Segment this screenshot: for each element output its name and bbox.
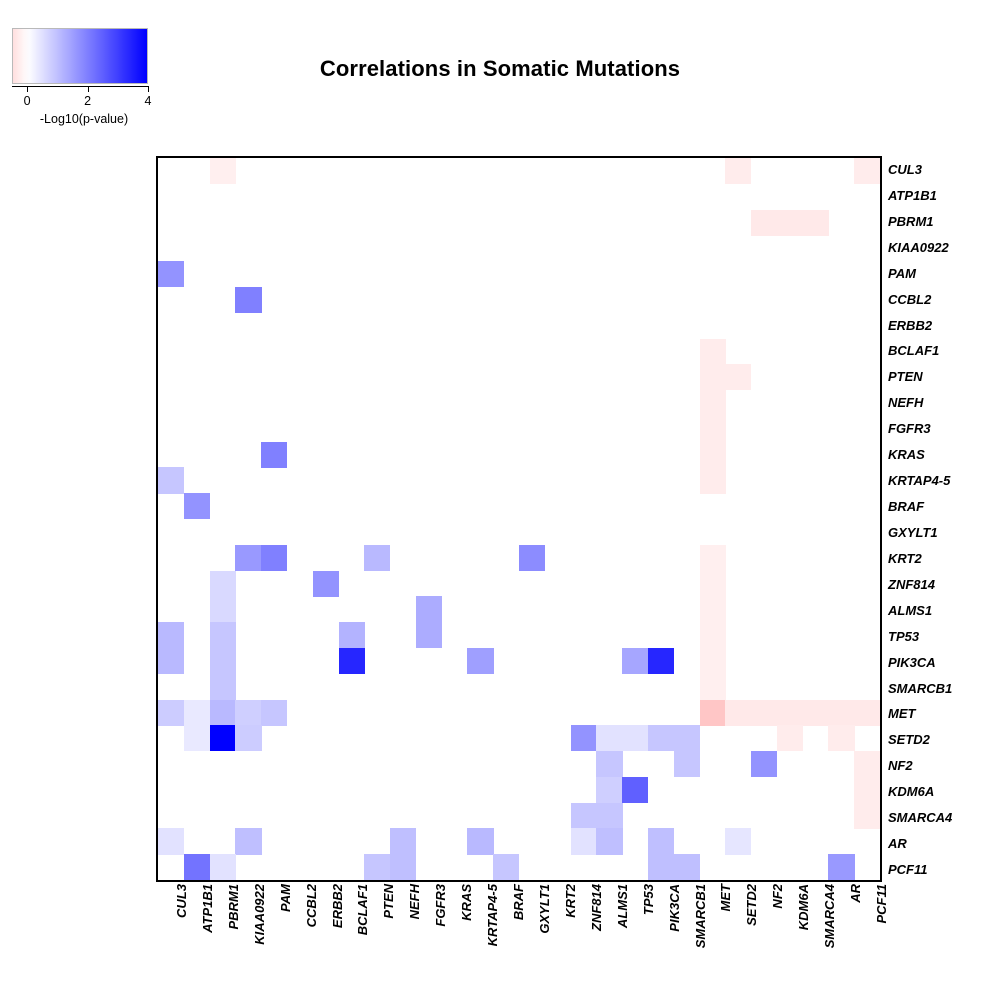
heatmap-cell xyxy=(235,828,261,854)
heatmap-cell xyxy=(210,158,236,184)
row-label-smarca4: SMARCA4 xyxy=(888,811,952,824)
heatmap-cell xyxy=(210,648,236,674)
row-label-nf2: NF2 xyxy=(888,759,913,772)
row-label-erbb2: ERBB2 xyxy=(888,319,932,332)
heatmap-cell xyxy=(854,700,880,726)
heatmap-cell xyxy=(700,596,726,622)
heatmap-cell xyxy=(184,725,210,751)
heatmap-cell xyxy=(339,622,365,648)
heatmap-cell xyxy=(828,854,854,880)
col-label-fgfr3: FGFR3 xyxy=(433,884,448,927)
heatmap-cell xyxy=(725,700,751,726)
col-label-nefh: NEFH xyxy=(407,884,422,919)
col-label-alms1: ALMS1 xyxy=(615,884,630,928)
heatmap-cell xyxy=(622,725,648,751)
heatmap-cell xyxy=(364,854,390,880)
col-label-nf2: NF2 xyxy=(770,884,785,909)
heatmap-cell xyxy=(467,648,493,674)
heatmap-cell xyxy=(210,674,236,700)
col-label-atp1b1: ATP1B1 xyxy=(200,884,215,933)
row-label-kras: KRAS xyxy=(888,448,925,461)
heatmap-cell xyxy=(803,210,829,236)
heatmap-cell xyxy=(416,622,442,648)
heatmap-cell xyxy=(571,803,597,829)
heatmap-cell xyxy=(854,158,880,184)
col-label-pik3ca: PIK3CA xyxy=(667,884,682,932)
col-label-bclaf1: BCLAF1 xyxy=(355,884,370,935)
row-label-kiaa0922: KIAA0922 xyxy=(888,241,949,254)
page-title: Correlations in Somatic Mutations xyxy=(0,56,1000,82)
row-label-gxylt1: GXYLT1 xyxy=(888,526,938,539)
row-label-pten: PTEN xyxy=(888,370,923,383)
heatmap-cell xyxy=(700,339,726,365)
heatmap-cell xyxy=(235,725,261,751)
col-label-cul3: CUL3 xyxy=(174,884,189,918)
heatmap-cell xyxy=(210,725,236,751)
heatmap-cells xyxy=(158,158,880,880)
heatmap-cell xyxy=(700,545,726,571)
heatmap-cell xyxy=(158,828,184,854)
row-label-tp53: TP53 xyxy=(888,630,919,643)
row-label-alms1: ALMS1 xyxy=(888,604,932,617)
heatmap-cell xyxy=(596,725,622,751)
heatmap-cell xyxy=(803,700,829,726)
heatmap-cell xyxy=(700,467,726,493)
colorbar-legend: 024 -Log10(p-value) xyxy=(12,28,212,138)
row-label-pcf11: PCF11 xyxy=(888,863,928,876)
heatmap-cell xyxy=(777,725,803,751)
col-label-kras: KRAS xyxy=(459,884,474,921)
heatmap-cell xyxy=(158,622,184,648)
heatmap-cell xyxy=(184,493,210,519)
col-label-smarca4: SMARCA4 xyxy=(822,884,837,948)
col-label-pten: PTEN xyxy=(381,884,396,919)
heatmap-cell xyxy=(261,545,287,571)
heatmap-cell xyxy=(158,467,184,493)
heatmap-cell xyxy=(467,828,493,854)
heatmap-cell xyxy=(261,700,287,726)
heatmap-cell xyxy=(674,751,700,777)
col-label-pam: PAM xyxy=(278,884,293,912)
heatmap-cell xyxy=(700,674,726,700)
row-label-fgfr3: FGFR3 xyxy=(888,422,931,435)
colorbar-caption: -Log10(p-value) xyxy=(4,112,164,126)
col-label-znf814: ZNF814 xyxy=(589,884,604,931)
heatmap-cell xyxy=(777,700,803,726)
heatmap-cell xyxy=(235,700,261,726)
row-label-kdm6a: KDM6A xyxy=(888,785,934,798)
column-axis-labels: CUL3ATP1B1PBRM1KIAA0922PAMCCBL2ERBB2BCLA… xyxy=(156,884,882,1000)
row-label-nefh: NEFH xyxy=(888,396,923,409)
heatmap-cell xyxy=(854,751,880,777)
heatmap-cell xyxy=(828,700,854,726)
row-label-krt2: KRT2 xyxy=(888,552,922,565)
heatmap-cell xyxy=(751,751,777,777)
heatmap-cell xyxy=(596,777,622,803)
heatmap-cell xyxy=(519,545,545,571)
colorbar-tick xyxy=(27,86,28,92)
row-label-pik3ca: PIK3CA xyxy=(888,656,936,669)
row-label-cul3: CUL3 xyxy=(888,163,922,176)
col-label-krt2: KRT2 xyxy=(563,884,578,918)
heatmap-cell xyxy=(493,854,519,880)
col-label-braf: BRAF xyxy=(511,884,526,920)
col-label-smarcb1: SMARCB1 xyxy=(693,884,708,948)
heatmap-cell xyxy=(700,442,726,468)
col-label-erbb2: ERBB2 xyxy=(330,884,345,928)
heatmap-cell xyxy=(313,571,339,597)
heatmap-cell xyxy=(700,416,726,442)
heatmap-cell xyxy=(390,828,416,854)
heatmap-cell xyxy=(571,828,597,854)
col-label-kdm6a: KDM6A xyxy=(796,884,811,930)
heatmap-cell xyxy=(210,571,236,597)
col-label-ccbl2: CCBL2 xyxy=(304,884,319,927)
colorbar-tick-label: 4 xyxy=(133,94,163,108)
heatmap-cell xyxy=(648,828,674,854)
heatmap-cell xyxy=(364,545,390,571)
heatmap-cell xyxy=(210,700,236,726)
row-label-bclaf1: BCLAF1 xyxy=(888,344,939,357)
heatmap-cell xyxy=(751,700,777,726)
heatmap-cell xyxy=(700,622,726,648)
heatmap-cell xyxy=(828,725,854,751)
col-label-tp53: TP53 xyxy=(641,884,656,915)
heatmap-cell xyxy=(416,596,442,622)
col-label-pcf11: PCF11 xyxy=(874,884,889,924)
colorbar-tick xyxy=(148,86,149,92)
heatmap-cell xyxy=(596,803,622,829)
row-label-atp1b1: ATP1B1 xyxy=(888,189,937,202)
col-label-setd2: SETD2 xyxy=(744,884,759,926)
heatmap-cell xyxy=(648,854,674,880)
heatmap-cell xyxy=(648,725,674,751)
col-label-gxylt1: GXYLT1 xyxy=(537,884,552,934)
row-label-setd2: SETD2 xyxy=(888,733,930,746)
heatmap-cell xyxy=(158,700,184,726)
heatmap-cell xyxy=(700,390,726,416)
heatmap-cell xyxy=(700,364,726,390)
heatmap-cell xyxy=(596,828,622,854)
heatmap-cell xyxy=(158,648,184,674)
heatmap-cell xyxy=(596,751,622,777)
heatmap-cell xyxy=(339,648,365,674)
heatmap-cell xyxy=(158,261,184,287)
heatmap-plot-area xyxy=(156,156,882,882)
row-label-ar: AR xyxy=(888,837,907,850)
heatmap-cell xyxy=(700,700,726,726)
heatmap-cell xyxy=(725,364,751,390)
heatmap-cell xyxy=(184,854,210,880)
row-axis-labels: CUL3ATP1B1PBRM1KIAA0922PAMCCBL2ERBB2BCLA… xyxy=(888,156,1000,882)
row-label-znf814: ZNF814 xyxy=(888,578,935,591)
col-label-ar: AR xyxy=(848,884,863,903)
heatmap-cell xyxy=(725,828,751,854)
heatmap-cell xyxy=(700,648,726,674)
row-label-ccbl2: CCBL2 xyxy=(888,293,931,306)
heatmap-cell xyxy=(674,725,700,751)
heatmap-cell xyxy=(725,158,751,184)
row-label-braf: BRAF xyxy=(888,500,924,513)
heatmap-cell xyxy=(235,287,261,313)
heatmap-cell xyxy=(751,210,777,236)
heatmap-cell xyxy=(648,648,674,674)
row-label-pam: PAM xyxy=(888,267,916,280)
heatmap-cell xyxy=(700,571,726,597)
heatmap-cell xyxy=(390,854,416,880)
heatmap-cell xyxy=(622,777,648,803)
heatmap-cell xyxy=(210,622,236,648)
colorbar-tick xyxy=(88,86,89,92)
heatmap-cell xyxy=(854,777,880,803)
col-label-met: MET xyxy=(718,884,733,911)
heatmap-cell xyxy=(571,725,597,751)
colorbar-tick-label: 2 xyxy=(73,94,103,108)
col-label-pbrm1: PBRM1 xyxy=(226,884,241,930)
heatmap-cell xyxy=(854,803,880,829)
colorbar-axis-line xyxy=(12,86,148,87)
heatmap-cell xyxy=(674,854,700,880)
heatmap-cell xyxy=(622,648,648,674)
row-label-pbrm1: PBRM1 xyxy=(888,215,934,228)
heatmap-cell xyxy=(777,210,803,236)
row-label-met: MET xyxy=(888,707,915,720)
col-label-krtap4-5: KRTAP4-5 xyxy=(485,884,500,946)
row-label-krtap4-5: KRTAP4-5 xyxy=(888,474,950,487)
heatmap-cell xyxy=(235,545,261,571)
colorbar-tick-label: 0 xyxy=(12,94,42,108)
heatmap-cell xyxy=(184,700,210,726)
row-label-smarcb1: SMARCB1 xyxy=(888,682,952,695)
heatmap-cell xyxy=(210,596,236,622)
heatmap-cell xyxy=(261,442,287,468)
col-label-kiaa0922: KIAA0922 xyxy=(252,884,267,945)
heatmap-cell xyxy=(210,854,236,880)
